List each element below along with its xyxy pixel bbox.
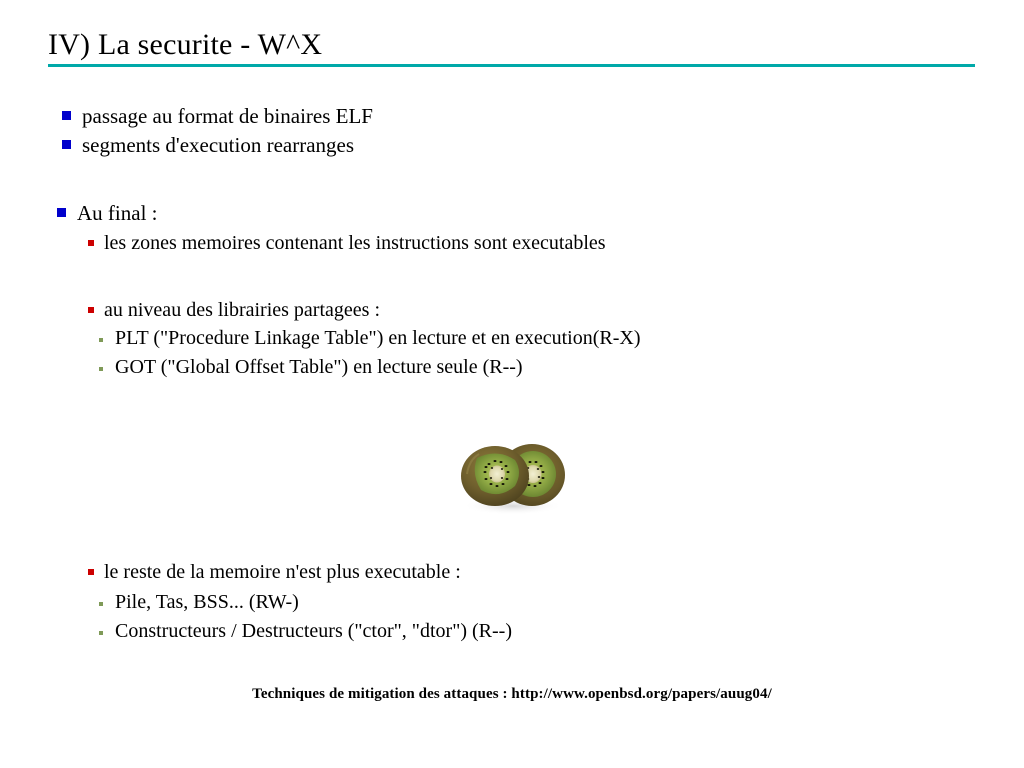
- bullet-text: PLT ("Procedure Linkage Table") en lectu…: [115, 324, 640, 352]
- bullet-item-level3: Pile, Tas, BSS... (RW-): [99, 588, 299, 616]
- bullet-item-level2: au niveau des librairies partagees :: [88, 296, 380, 324]
- kiwi-half-left: [461, 446, 529, 506]
- title-divider: [48, 64, 975, 67]
- bullet-item-level3: Constructeurs / Destructeurs ("ctor", "d…: [99, 617, 512, 645]
- bullet-marker-square-blue-icon: [62, 140, 71, 149]
- bullet-item-level2: le reste de la memoire n'est plus execut…: [88, 558, 461, 586]
- bullet-text: au niveau des librairies partagees :: [104, 296, 380, 324]
- bullet-marker-square-red-icon: [88, 569, 94, 575]
- bullet-marker-dot-green-icon: [99, 338, 103, 342]
- footer-reference: Techniques de mitigation des attaques : …: [0, 686, 1024, 703]
- bullet-text: les zones memoires contenant les instruc…: [104, 229, 606, 257]
- bullet-item-level1: segments d'execution rearranges: [62, 131, 354, 160]
- bullet-text: le reste de la memoire n'est plus execut…: [104, 558, 461, 586]
- bullet-text: GOT ("Global Offset Table") en lecture s…: [115, 353, 523, 381]
- bullet-marker-dot-green-icon: [99, 631, 103, 635]
- bullet-item-level3: PLT ("Procedure Linkage Table") en lectu…: [99, 324, 640, 352]
- bullet-item-level3: GOT ("Global Offset Table") en lecture s…: [99, 353, 523, 381]
- bullet-text: Constructeurs / Destructeurs ("ctor", "d…: [115, 617, 512, 645]
- bullet-marker-square-blue-icon: [57, 208, 66, 217]
- bullet-item-level1: Au final :: [57, 199, 157, 228]
- bullet-marker-square-red-icon: [88, 240, 94, 246]
- bullet-marker-dot-green-icon: [99, 602, 103, 606]
- bullet-item-level2: les zones memoires contenant les instruc…: [88, 229, 606, 257]
- bullet-marker-dot-green-icon: [99, 367, 103, 371]
- bullet-marker-square-blue-icon: [62, 111, 71, 120]
- page-title: IV) La securite - W^X: [48, 27, 322, 63]
- bullet-text: Au final :: [77, 199, 157, 228]
- bullet-text: segments d'execution rearranges: [82, 131, 354, 160]
- bullet-item-level1: passage au format de binaires ELF: [62, 102, 373, 131]
- kiwi-fruit-image: [455, 430, 573, 518]
- bullet-text: Pile, Tas, BSS... (RW-): [115, 588, 299, 616]
- bullet-text: passage au format de binaires ELF: [82, 102, 373, 131]
- bullet-marker-square-red-icon: [88, 307, 94, 313]
